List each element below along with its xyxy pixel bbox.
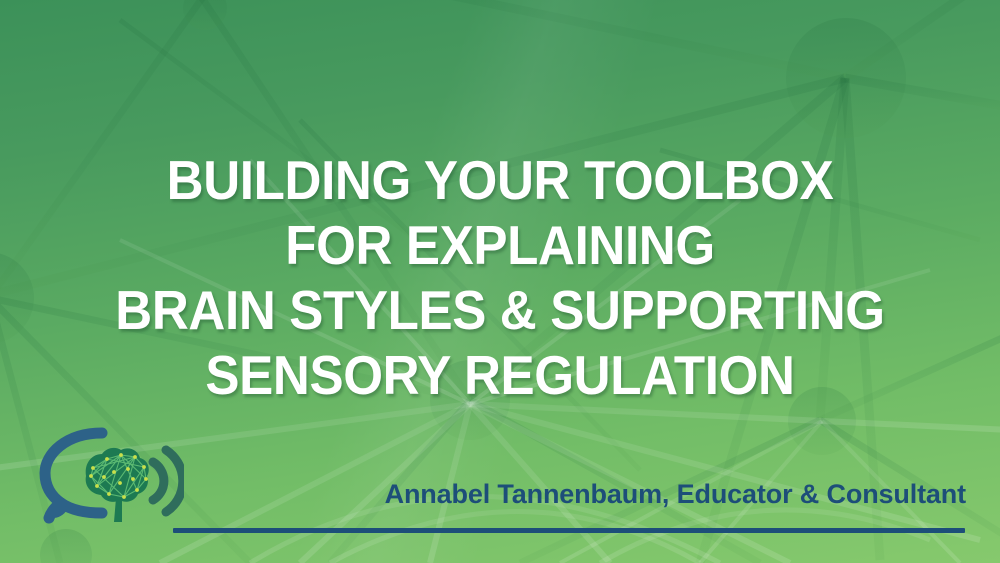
page-title: BUILDING YOUR TOOLBOX FOR EXPLAINING BRA… <box>0 148 1000 408</box>
title-line-1: BUILDING YOUR TOOLBOX <box>35 148 965 213</box>
title-line-3: BRAIN STYLES & SUPPORTING <box>35 278 965 343</box>
presenter-underline-rule <box>173 528 965 533</box>
presenter-name: Annabel Tannenbaum, Educator & Consultan… <box>0 479 966 510</box>
title-line-4: SENSORY REGULATION <box>35 343 965 408</box>
title-slide: BUILDING YOUR TOOLBOX FOR EXPLAINING BRA… <box>0 0 1000 563</box>
title-line-2: FOR EXPLAINING <box>35 213 965 278</box>
